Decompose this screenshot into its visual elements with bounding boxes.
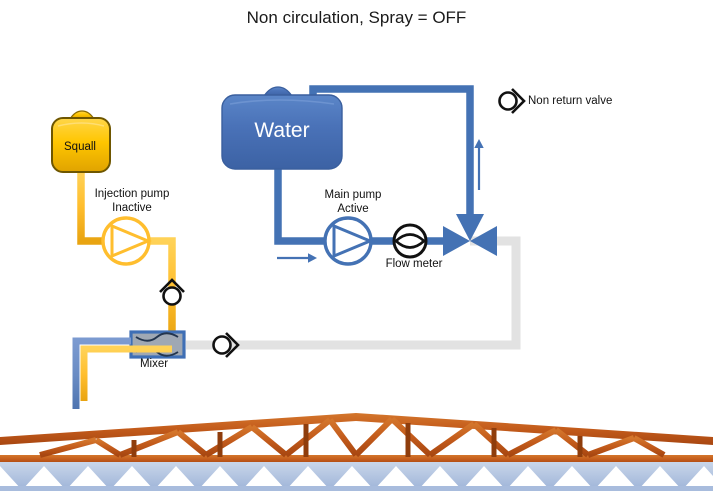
- non-return-valve-label: Non return valve: [528, 95, 612, 109]
- non-return-valve-legend-icon: [500, 89, 525, 113]
- main-pump-label-line1: Main pump: [295, 189, 411, 203]
- injection-pump-label: Injection pump Inactive: [72, 188, 192, 215]
- main-pump[interactable]: [325, 218, 371, 264]
- water-tank-label: Water: [225, 119, 339, 144]
- three-way-valve[interactable]: [443, 214, 497, 256]
- flow-meter[interactable]: [394, 225, 426, 257]
- process-flow-diagram: [0, 0, 713, 501]
- injection-pump-label-line2: Inactive: [72, 202, 192, 216]
- flow-arrow-suction: [277, 253, 317, 263]
- main-pump-label-line2: Active: [295, 203, 411, 217]
- squall-tank-label: Squall: [52, 141, 108, 155]
- diagram-canvas: Non circulation, Spray = OFF Squall Wate…: [0, 0, 713, 501]
- page-title: Non circulation, Spray = OFF: [0, 8, 713, 28]
- roof-zigzag-band: [0, 462, 713, 491]
- flow-arrow-riser: [474, 139, 483, 190]
- injection-pump[interactable]: [103, 218, 149, 264]
- flow-meter-label: Flow meter: [374, 258, 454, 272]
- main-pump-label: Main pump Active: [295, 189, 411, 216]
- injection-pump-label-line1: Injection pump: [72, 188, 192, 202]
- mixer[interactable]: [131, 332, 184, 357]
- roof-truss: [0, 413, 713, 464]
- mixer-label: Mixer: [124, 358, 184, 372]
